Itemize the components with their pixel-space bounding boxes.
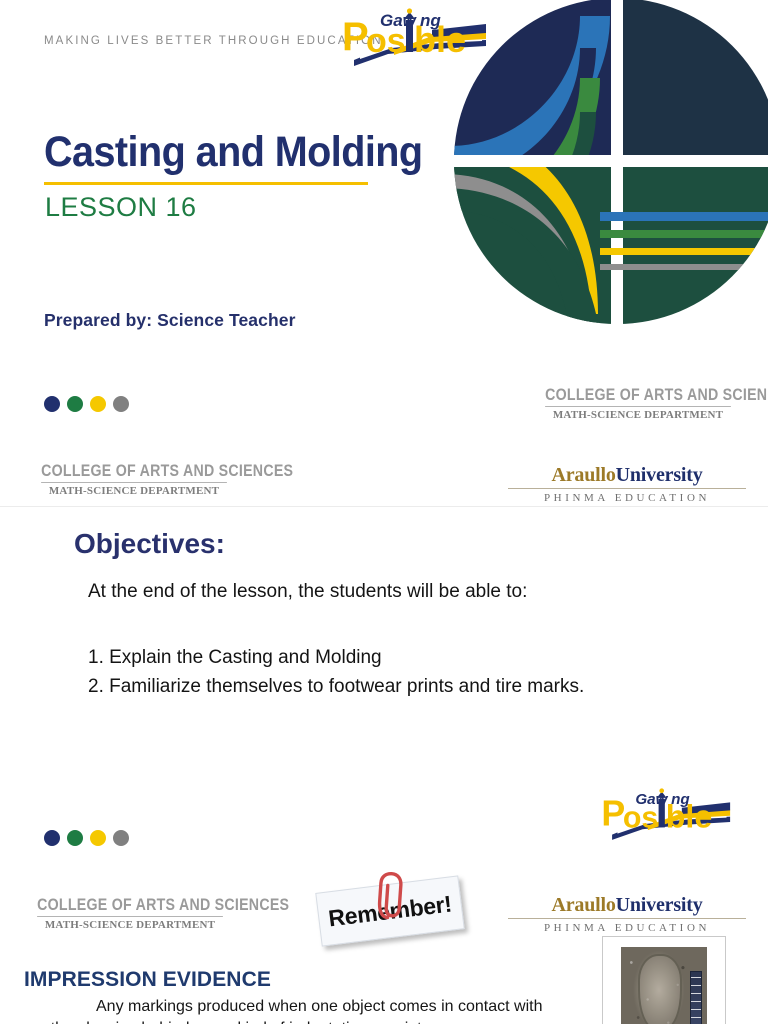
shoe-print-outline <box>638 954 682 1024</box>
svg-text:ng: ng <box>420 11 441 30</box>
cas-logo-title: COLLEGE OF ARTS AND SCIENCES <box>41 462 227 483</box>
paperclip-icon <box>376 871 413 923</box>
cas-logo-title: COLLEGE OF ARTS AND SCIENCES <box>545 386 731 407</box>
prepared-by-label: Prepared by: Science Teacher <box>44 310 295 331</box>
svg-text:P: P <box>601 794 625 834</box>
svg-text:ng: ng <box>671 791 690 808</box>
araullo-university-logo: AraulloUniversity PHINMA EDUCATION <box>508 464 746 504</box>
college-of-arts-and-sciences-logo: COLLEGE OF ARTS AND SCIENCES MATH-SCIENC… <box>530 386 746 421</box>
page-title: Casting and Molding <box>44 128 422 177</box>
au-word-araullo: Araullo <box>551 464 615 486</box>
objectives-heading: Objectives: <box>74 528 225 560</box>
slide-objectives: Objectives: At the end of the lesson, th… <box>0 507 768 1024</box>
college-of-arts-and-sciences-logo: COLLEGE OF ARTS AND SCIENCES MATH-SCIENC… <box>26 462 242 497</box>
au-word-university: University <box>616 894 703 916</box>
title-underline <box>44 182 368 185</box>
lesson-label: LESSON 16 <box>45 192 197 223</box>
au-word-araullo: Araullo <box>551 894 615 916</box>
brand-tagline: MAKING LIVES BETTER THROUGH EDUCATION <box>44 35 383 47</box>
araullo-university-logo: AraulloUniversity PHINMA EDUCATION <box>508 894 746 934</box>
objectives-intro: At the end of the lesson, the students w… <box>88 581 527 603</box>
brand-dot-row <box>44 396 129 412</box>
gawing-posible-logo-icon: P os ble Gaw ng <box>596 786 748 842</box>
slide-title: MAKING LIVES BETTER THROUGH EDUCATION P … <box>0 0 768 507</box>
dot-gray <box>113 830 129 846</box>
svg-text:Gaw: Gaw <box>380 11 418 30</box>
impression-photo-frame <box>602 936 726 1024</box>
svg-text:Gaw: Gaw <box>635 791 668 808</box>
impression-evidence-body: Any markings produced when one object co… <box>24 996 584 1024</box>
college-of-arts-and-sciences-logo: COLLEGE OF ARTS AND SCIENCES MATH-SCIENC… <box>22 896 238 931</box>
cas-logo-department: MATH-SCIENCE DEPARTMENT <box>530 409 746 421</box>
dot-yellow <box>90 830 106 846</box>
dot-gray <box>113 396 129 412</box>
measuring-scale <box>690 971 701 1024</box>
au-word-university: University <box>616 464 703 486</box>
brand-circle-graphic <box>452 0 768 326</box>
dot-navy <box>44 830 60 846</box>
objectives-list: 1. Explain the Casting and Molding 2. Fa… <box>88 643 708 701</box>
shoe-impression-photo <box>621 947 707 1024</box>
dot-green <box>67 830 83 846</box>
au-wordmark: AraulloUniversity <box>508 464 746 489</box>
au-wordmark: AraulloUniversity <box>508 894 746 919</box>
au-subtitle: PHINMA EDUCATION <box>508 492 746 504</box>
cas-logo-department: MATH-SCIENCE DEPARTMENT <box>22 919 238 931</box>
dot-navy <box>44 396 60 412</box>
dot-yellow <box>90 396 106 412</box>
au-subtitle: PHINMA EDUCATION <box>508 922 746 934</box>
cas-logo-title: COLLEGE OF ARTS AND SCIENCES <box>37 896 223 917</box>
impression-evidence-heading: IMPRESSION EVIDENCE <box>24 968 271 992</box>
dot-green <box>67 396 83 412</box>
cas-logo-department: MATH-SCIENCE DEPARTMENT <box>26 485 242 497</box>
svg-text:P: P <box>342 15 369 59</box>
brand-dot-row <box>44 830 129 846</box>
